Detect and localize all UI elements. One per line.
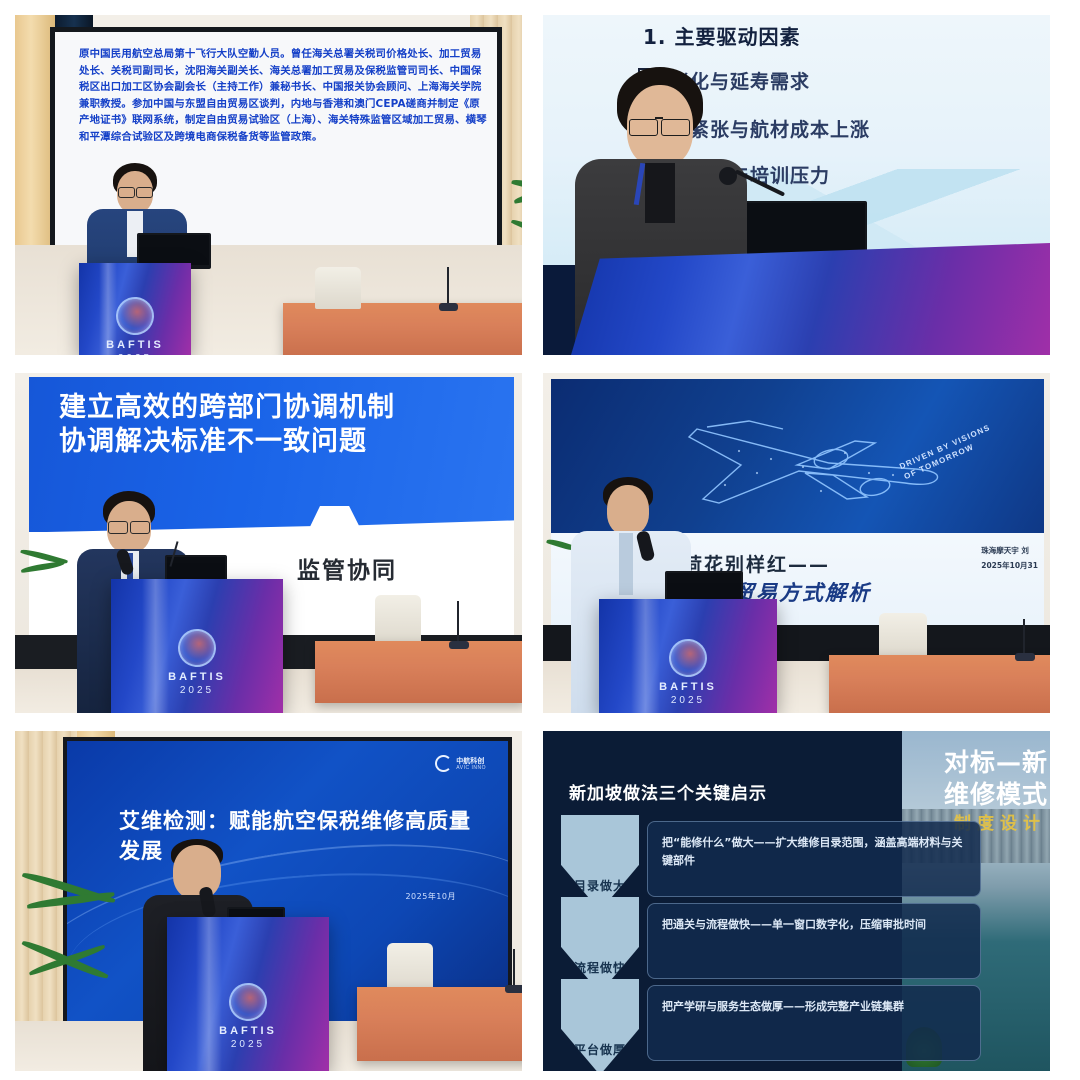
handheld-microphone xyxy=(719,167,737,185)
lectern-year: 2025 xyxy=(111,685,283,696)
lectern[interactable] xyxy=(571,243,1050,355)
microphone-base xyxy=(505,985,522,993)
slide-title-line-2: 协调解决标准不一致问题 xyxy=(59,419,367,458)
slide-caption: 监管协同 xyxy=(297,551,397,585)
step-card-2: 把通关与流程做快——单一窗口数字化，压缩审批时间 xyxy=(647,903,981,979)
slide-step-row: 平台做厚 把产学研与服务生态做厚——形成完整产业链集群 xyxy=(561,979,981,1071)
avic-inno-logo: 中航科创 AVIC INNO xyxy=(435,755,486,772)
potted-plant xyxy=(23,859,127,1009)
chair xyxy=(375,595,421,647)
lectern[interactable]: BAFTIS 2025 xyxy=(79,263,191,355)
table-microphone xyxy=(457,601,459,643)
step-card-3: 把产学研与服务生态做厚——形成完整产业链集群 xyxy=(647,985,981,1061)
slide-presenter-meta: 珠海摩天宇 刘 2025年10月31 xyxy=(981,543,1038,573)
baftis-logo-mark xyxy=(224,978,272,1026)
collage-photo-3[interactable]: 建立高效的跨部门协调机制 协调解决标准不一致问题 监管协同 xyxy=(15,373,522,713)
logo-en-text: AVIC INNO xyxy=(456,765,486,771)
logo-ring-icon xyxy=(435,755,452,772)
collage-photo-1[interactable]: 原中国民用航空总局第十飞行大队空勤人员。曾任海关总署关税司价格处长、加工贸易处长… xyxy=(15,15,522,355)
microphone-base xyxy=(449,641,469,649)
slide-right-title-1: 对标—新 xyxy=(944,743,1048,779)
lectern-brand: BAFTIS xyxy=(111,671,283,683)
slide-heading: 1. 主要驱动因素 xyxy=(643,21,800,50)
slide-right-title-2: 维修模式 xyxy=(944,775,1048,811)
slide-date: 2025年10月 xyxy=(405,891,456,902)
logo-cn-text: 中航科创 xyxy=(456,757,486,765)
lectern-brand: BAFTIS xyxy=(79,339,191,351)
table-microphone xyxy=(513,949,515,989)
lectern[interactable]: BAFTIS 2025 xyxy=(167,917,329,1071)
collage-photo-2[interactable]: 1. 主要驱动因素 老化与延寿需求 链紧张与航材成本上涨 力短缺与培训压力 动效… xyxy=(543,15,1050,355)
microphone-base xyxy=(439,303,458,311)
lectern-year: 2025 xyxy=(599,695,777,706)
baftis-logo-mark xyxy=(111,292,159,340)
baftis-logo-mark xyxy=(664,634,712,682)
collage-photo-5[interactable]: 中航科创 AVIC INNO 艾维检测：赋能航空保税维修高质量发展 2025年1… xyxy=(15,731,522,1071)
slide-full-bleed: 对标—新 维修模式 制度设计 新加坡做法三个关键启示 目录做大 把“能修什么”做… xyxy=(543,731,1050,1071)
step-card-1: 把“能修什么”做大——扩大维修目录范围，涵盖高端材料与关键部件 xyxy=(647,821,981,897)
slide-body-text: 原中国民用航空总局第十飞行大队空勤人员。曾任海关总署关税司价格处长、加工贸易处长… xyxy=(79,46,489,145)
table-microphone xyxy=(447,267,449,305)
head-table xyxy=(357,987,522,1061)
potted-plant xyxy=(21,541,71,601)
collage-photo-6[interactable]: 对标—新 维修模式 制度设计 新加坡做法三个关键启示 目录做大 把“能修什么”做… xyxy=(543,731,1050,1071)
head-table xyxy=(829,655,1050,713)
lectern-brand: BAFTIS xyxy=(167,1025,329,1037)
chair xyxy=(315,267,361,309)
chair xyxy=(879,613,927,659)
baftis-logo-mark xyxy=(173,624,221,672)
potted-plant xyxy=(512,163,522,243)
chevron-step-3: 平台做厚 xyxy=(561,979,639,1071)
table-microphone xyxy=(1023,619,1025,655)
lectern[interactable]: BAFTIS 2025 xyxy=(599,599,777,713)
head-table xyxy=(315,641,522,703)
lectern-year: 2025 xyxy=(79,353,191,355)
lectern[interactable]: BAFTIS 2025 xyxy=(111,579,283,713)
photo-collage-grid: 原中国民用航空总局第十飞行大队空勤人员。曾任海关总署关税司价格处长、加工贸易处长… xyxy=(15,15,1065,1065)
microphone-base xyxy=(1015,653,1035,661)
head-table xyxy=(283,303,522,355)
collage-photo-4[interactable]: DRIVEN BY VISIONS OF TOMORROW 映日荷花别样红—— … xyxy=(543,373,1050,713)
lectern-year: 2025 xyxy=(167,1039,329,1050)
slide-heading: 新加坡做法三个关键启示 xyxy=(569,779,767,804)
lectern-brand: BAFTIS xyxy=(599,681,777,693)
